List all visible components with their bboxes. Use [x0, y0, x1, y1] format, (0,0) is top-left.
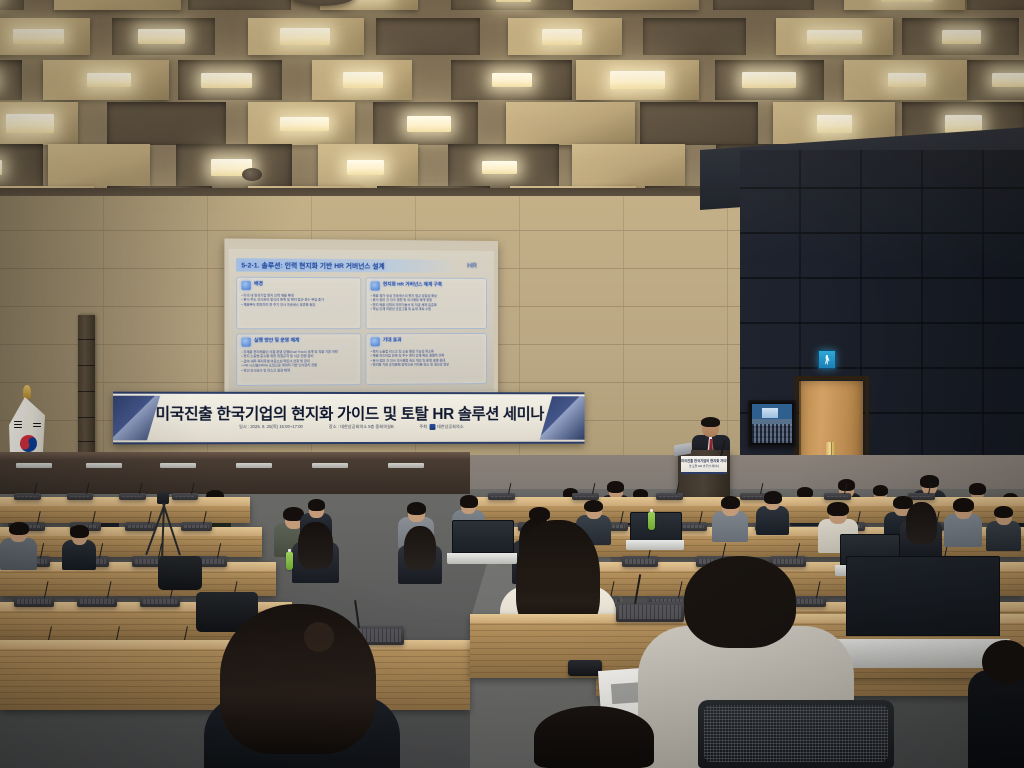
- slide-box-title: 배경: [254, 281, 263, 287]
- projection-screen: 5-2-1. 솔루션: 인력 현지화 기반 HR 거버넌스 설계 HR 배경미국…: [224, 238, 498, 401]
- podium-laptop: [674, 443, 691, 457]
- audience-hair: [994, 506, 1013, 519]
- ceiling-coffer: [48, 144, 150, 190]
- podium-sign-line2: 및 토탈 HR 솔루션 세미나: [681, 464, 727, 468]
- ceiling-coffer-recess: [713, 0, 814, 10]
- audience-member: [756, 490, 789, 533]
- ceiling-light-panel: [610, 71, 665, 89]
- slide-bullet: 채용부터 퇴직까지 전 주기 인사 프로세스 표준화 필요: [241, 302, 356, 307]
- wall-speaker: [78, 315, 95, 461]
- audience-hair: [827, 502, 849, 517]
- slide-title: 5-2-1. 솔루션: 인력 현지화 기반 HR 거버넌스 설계: [236, 260, 385, 270]
- flag-finial-icon: [23, 385, 31, 399]
- ceiling-coffer: [506, 102, 635, 145]
- audience-member: [0, 520, 37, 568]
- slide-box-head: 기대 효과: [371, 337, 482, 346]
- ceiling-coffer: [572, 144, 685, 190]
- monitor-camera-feed: [752, 404, 792, 443]
- ceiling-light-panel: [347, 160, 384, 175]
- ceiling-light-panel: [992, 73, 1024, 87]
- audience-hair: [584, 500, 603, 513]
- ceiling-coffer-recess: [188, 0, 291, 10]
- banner-place: 장소 : 대한상공회의소 5층 중회의실B: [329, 424, 394, 430]
- laptop-screen: [630, 512, 682, 541]
- desk-console[interactable]: [77, 596, 117, 608]
- desk-console[interactable]: [181, 522, 212, 531]
- slide-bullet-list: 미국 내 한국기업 현지 인력 채용 확대본사 주도 인사관리 방식의 한계 및…: [241, 293, 356, 308]
- camera-tripod: [148, 492, 178, 558]
- ceiling-coffer-recess: [0, 60, 22, 100]
- slide-box-title: 실행 방안 및 운영 체계: [254, 337, 299, 343]
- laptop-screen: [846, 556, 1000, 636]
- running-person-icon: [825, 355, 830, 365]
- seminar-hall-photo: 5-2-1. 솔루션: 인력 현지화 기반 HR 거버넌스 설계 HR 배경미국…: [0, 0, 1024, 768]
- name-card: [388, 463, 424, 468]
- hair-clip-icon: [304, 622, 334, 652]
- audience-torso: [712, 511, 748, 542]
- foreground-attendee: [196, 604, 404, 768]
- foreground-head: [982, 640, 1024, 684]
- cloud-icon: [241, 281, 251, 290]
- beverage-bottle: [648, 512, 655, 530]
- gear-icon: [241, 338, 251, 347]
- slide-bullet: 연간 인사감사 및 리스크 점검 체계: [241, 368, 356, 373]
- ceiling-light-panel: [807, 30, 862, 44]
- foreground-head: [684, 556, 796, 648]
- smartphone[interactable]: [568, 660, 602, 676]
- laptop-keyboard[interactable]: [447, 553, 517, 564]
- slide-logo: HR: [457, 260, 487, 273]
- audience-hair: [969, 483, 986, 494]
- ceiling-coffer-recess: [967, 0, 1024, 10]
- ceiling-coffer-recess: [107, 102, 226, 145]
- foreground-attendee: [968, 640, 1024, 768]
- audience-hair: [764, 491, 782, 503]
- beverage-bottle: [286, 552, 293, 570]
- audience-hair: [607, 481, 624, 493]
- ceiling-light-panel: [942, 30, 981, 44]
- banner-subline: 일시 : 2025. 9. 25(목) 15:00~17:00 장소 : 대한상…: [113, 424, 584, 430]
- head-table: [0, 452, 470, 494]
- audience-hair: [9, 522, 29, 536]
- audience-hair: [721, 496, 741, 509]
- name-card: [86, 463, 122, 468]
- seminar-banner: 미국진출 한국기업의 현지화 가이드 및 토탈 HR 솔루션 세미나 일시 : …: [113, 392, 584, 445]
- slide-box-title: 기대 효과: [383, 337, 402, 343]
- ceiling-coffer-recess: [643, 18, 746, 55]
- desk-console[interactable]: [14, 493, 41, 501]
- audience-torso: [944, 514, 982, 547]
- slide-box-title: 현지화 HR 거버넌스 체계 구축: [383, 281, 442, 287]
- audience-torso: [986, 521, 1021, 551]
- slide-title-bar: 5-2-1. 솔루션: 인력 현지화 기반 HR 거버넌스 설계: [236, 258, 452, 273]
- laptop-keyboard[interactable]: [626, 540, 684, 550]
- desk-console[interactable]: [140, 596, 180, 608]
- chart-icon: [371, 281, 380, 290]
- desk-console[interactable]: [656, 493, 683, 501]
- slide-bullet-list: 주재원·현지채용인 이원 운영 모델(Dual Track) 설계 및 적용 기…: [241, 349, 356, 373]
- ceiling-light-panel: [888, 73, 926, 87]
- audience-hair: [953, 498, 974, 512]
- ceiling-light-panel: [496, 0, 531, 2]
- laptop-screen: [452, 520, 514, 553]
- name-card: [16, 463, 52, 468]
- banner-date: 일시 : 2025. 9. 25(목) 15:00~17:00: [239, 424, 303, 430]
- laptop[interactable]: [452, 520, 512, 564]
- audience-member: [986, 504, 1021, 550]
- ceiling-light-panel: [817, 115, 852, 133]
- mesh-office-chair[interactable]: [698, 700, 894, 768]
- audience-torso: [62, 540, 96, 570]
- slide-box: 배경미국 내 한국기업 현지 인력 채용 확대본사 주도 인사관리 방식의 한계…: [236, 277, 361, 330]
- desk-console[interactable]: [119, 493, 146, 501]
- ceiling-light-panel: [343, 72, 383, 88]
- ceiling-light-panel: [138, 29, 185, 44]
- podium-sign-line1: 미국진출 한국기업의 현지화 가이드: [681, 458, 727, 463]
- audience-long-hair: [906, 502, 937, 544]
- ceiling-light-panel: [742, 72, 796, 88]
- slide-bullet: 핵심 인재 리텐션 프로그램 및 승계 계획 수립: [371, 307, 482, 312]
- foreground-attendee: [534, 706, 654, 768]
- ceiling-coffer-recess: [640, 102, 758, 145]
- slide-box-head: 현지화 HR 거버넌스 체계 구축: [371, 281, 482, 291]
- slide-bullet: 현지화 기반 조직문화 정착으로 이직률 감소 및 생산성 향상: [371, 363, 482, 368]
- slide-box: 실행 방안 및 운영 체계주재원·현지채용인 이원 운영 모델(Dual Tra…: [236, 333, 361, 386]
- slide-box-head: 배경: [241, 281, 356, 291]
- long-hair: [534, 706, 654, 768]
- desk-console[interactable]: [14, 596, 54, 608]
- monitor-mini-screen: [762, 408, 778, 418]
- ceiling-light-panel: [280, 28, 330, 45]
- slide-box-head: 실행 방안 및 운영 체계: [241, 337, 356, 347]
- audience-member: [62, 524, 96, 568]
- name-card: [312, 463, 348, 468]
- desk-front-panel: [0, 536, 262, 557]
- long-hair: [220, 604, 376, 754]
- laptop[interactable]: [630, 512, 680, 550]
- ceiling-light-panel: [881, 0, 933, 2]
- wall-monitor: [748, 400, 796, 447]
- audience-member: [944, 496, 982, 545]
- audience-torso: [756, 506, 789, 535]
- banner-host-label: 주최: [419, 424, 427, 430]
- ceiling-coffer: [54, 0, 181, 10]
- slide-box: 기대 효과현지 노동법 리스크 및 소송 발생 가능성 최소화채용 리드타임 단…: [365, 333, 487, 385]
- ceiling-coffer-recess: [0, 0, 24, 10]
- desk-tier: [0, 527, 262, 557]
- ceiling-light-panel: [87, 73, 131, 87]
- audience-torso: [0, 538, 37, 570]
- audience-hair: [407, 502, 427, 515]
- desk-console[interactable]: [488, 493, 515, 501]
- banner-host: 주최 대한상공회의소: [419, 424, 463, 430]
- name-card: [160, 463, 196, 468]
- presenter-hair: [701, 417, 720, 427]
- ceiling-coffer: [573, 0, 699, 10]
- podium-sign: 미국진출 한국기업의 현지화 가이드 및 토탈 HR 솔루션 세미나: [681, 456, 727, 474]
- backpack: [158, 556, 202, 590]
- audience-hair: [308, 499, 326, 511]
- slide-box: 현지화 HR 거버넌스 체계 구축채용·평가·보상 프로세스의 현지 법규 정합…: [365, 277, 487, 329]
- ceiling-light-panel: [13, 29, 64, 44]
- emergency-exit-sign: [818, 350, 836, 369]
- ceiling-speaker-icon: [242, 168, 262, 181]
- shield-icon: [371, 337, 380, 346]
- slide-bullet-list: 채용·평가·보상 프로세스의 현지 법규 정합성 확보본사-법인 간 인사 권한…: [371, 293, 482, 312]
- ceiling-light-panel: [0, 160, 2, 175]
- audience-member: [398, 524, 442, 582]
- ceiling-light-panel: [6, 114, 54, 133]
- audience-member: [900, 500, 942, 555]
- ceiling-coffer-recess: [0, 144, 43, 190]
- audience-hair: [70, 525, 89, 538]
- dark-top: [968, 670, 1024, 768]
- ceiling-light-panel: [201, 73, 252, 88]
- desk-console[interactable]: [67, 493, 94, 501]
- podium: 미국진출 한국기업의 현지화 가이드 및 토탈 HR 솔루션 세미나: [678, 450, 730, 498]
- audience-long-hair: [298, 522, 333, 569]
- ceiling-light-panel: [280, 117, 329, 131]
- audience-member: [292, 520, 339, 581]
- audience-hair: [460, 495, 478, 507]
- ceiling-light-panel: [407, 116, 451, 132]
- banner-title: 미국진출 한국기업의 현지화 가이드 및 토탈 HR 솔루션 세미나: [113, 402, 584, 424]
- name-card: [236, 463, 272, 468]
- tripod-leg: [162, 503, 181, 556]
- acoustic-panel-wall: [740, 150, 1024, 502]
- slide-bullet-list: 현지 노동법 리스크 및 소송 발생 가능성 최소화채용 리드타임 단축 및 우…: [371, 349, 482, 368]
- presentation-slide: 5-2-1. 솔루션: 인력 현지화 기반 HR 거버넌스 설계 HR 배경미국…: [229, 249, 494, 394]
- audience-long-hair: [404, 526, 437, 570]
- ceiling-light-panel: [482, 161, 517, 174]
- host-logo-icon: [429, 424, 435, 430]
- ceiling-coffer-recess: [376, 18, 480, 55]
- ceiling-light-panel: [492, 73, 532, 87]
- audience-member: [712, 494, 748, 541]
- banner-host-name: 대한상공회의소: [437, 424, 464, 430]
- ceiling-light-panel: [542, 29, 582, 45]
- slide-content-grid: 배경미국 내 한국기업 현지 인력 채용 확대본사 주도 인사관리 방식의 한계…: [236, 277, 487, 386]
- head-table-top: [0, 452, 470, 459]
